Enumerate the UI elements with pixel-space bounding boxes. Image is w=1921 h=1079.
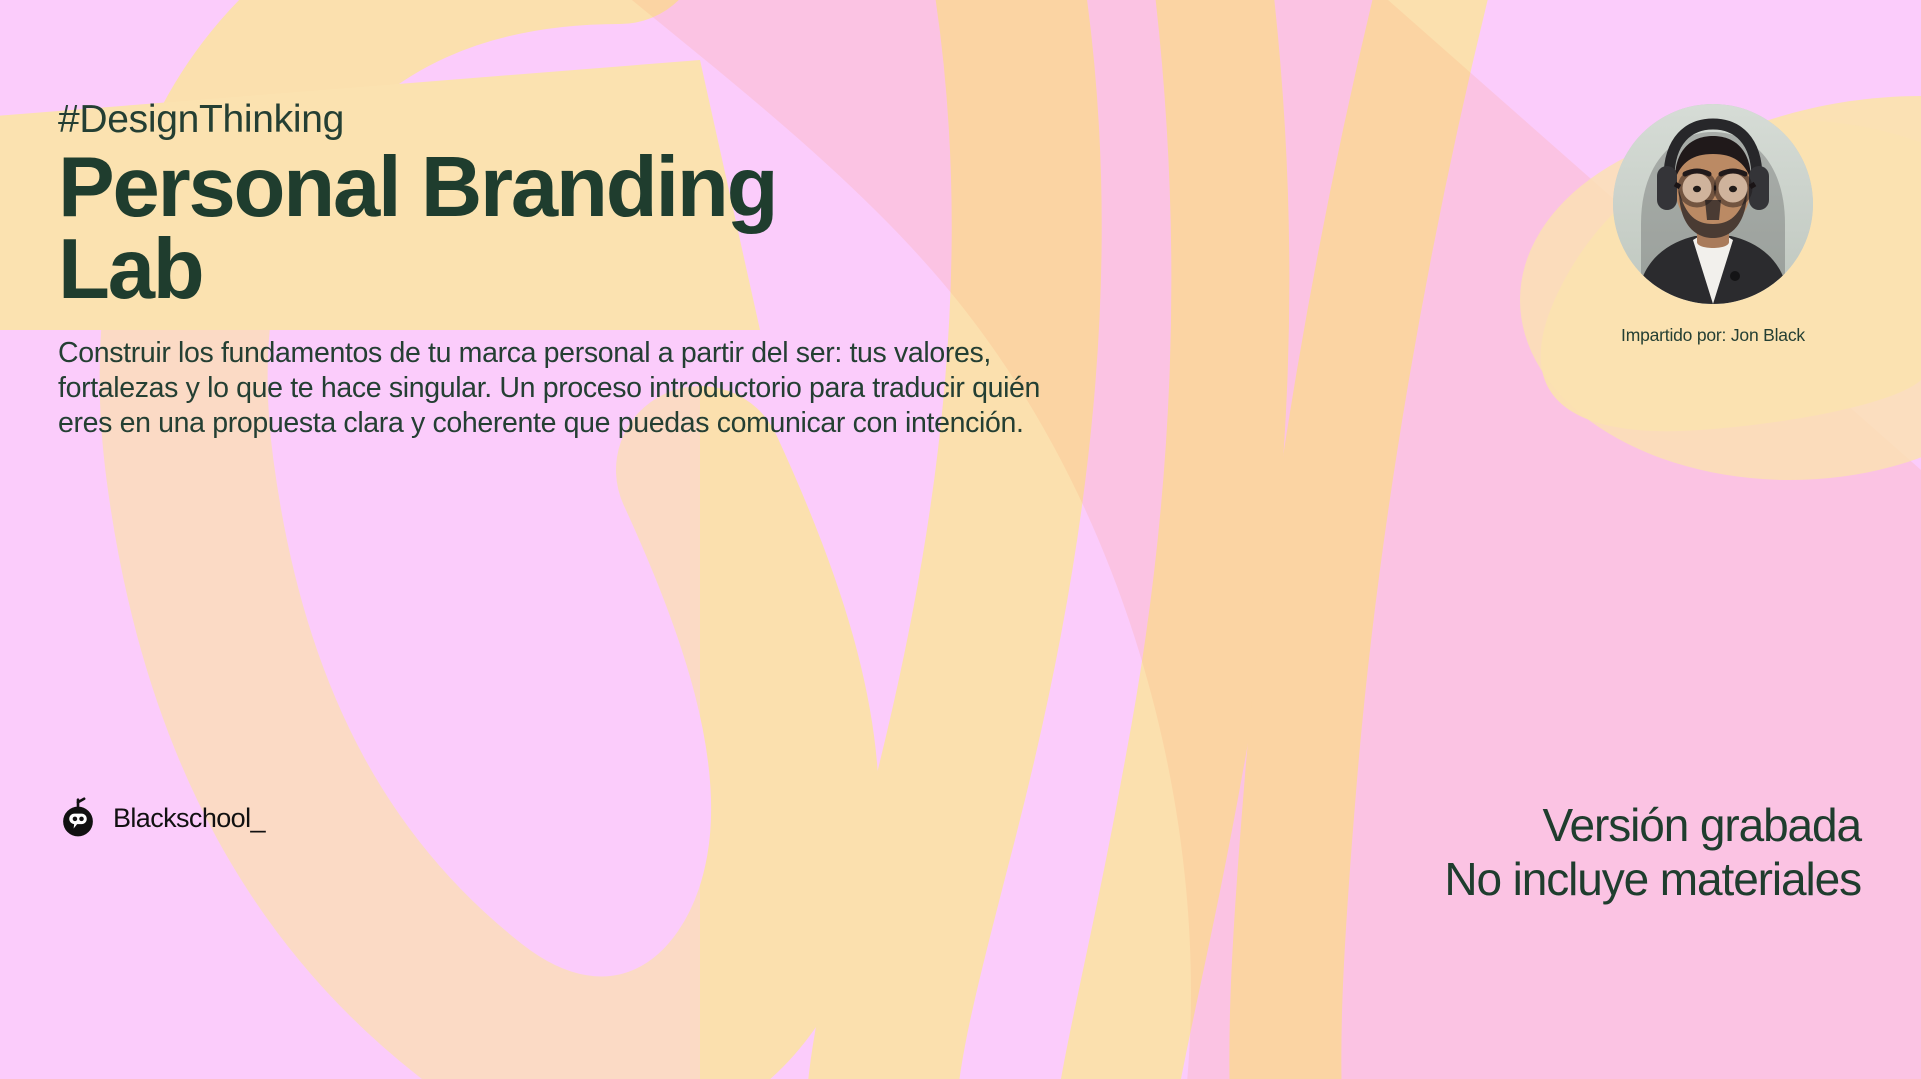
speaker-block: Impartido por: Jon Black (1608, 104, 1818, 346)
title-line-2: Lab (58, 229, 1058, 311)
availability-notice: Versión grabada No incluye materiales (1444, 799, 1861, 907)
avatar (1613, 104, 1813, 304)
speaker-caption: Impartido por: Jon Black (1608, 325, 1818, 346)
notice-line-2: No incluye materiales (1444, 853, 1861, 907)
page-title: Personal Branding Lab (58, 147, 1058, 312)
hashtag-label: #DesignThinking (58, 100, 1058, 141)
brand-name: Blackschool_ (113, 803, 265, 834)
speaker-portrait-icon (1613, 104, 1813, 304)
course-description: Construir los fundamentos de tu marca pe… (58, 336, 1088, 440)
headline-block: #DesignThinking Personal Branding Lab (58, 100, 1058, 312)
notice-line-1: Versión grabada (1444, 799, 1861, 853)
title-line-1: Personal Branding (58, 147, 1058, 229)
poster-stage: #DesignThinking Personal Branding Lab Co… (0, 0, 1921, 1079)
brand-logo: Blackschool_ (57, 797, 265, 839)
robot-head-icon (57, 797, 99, 839)
